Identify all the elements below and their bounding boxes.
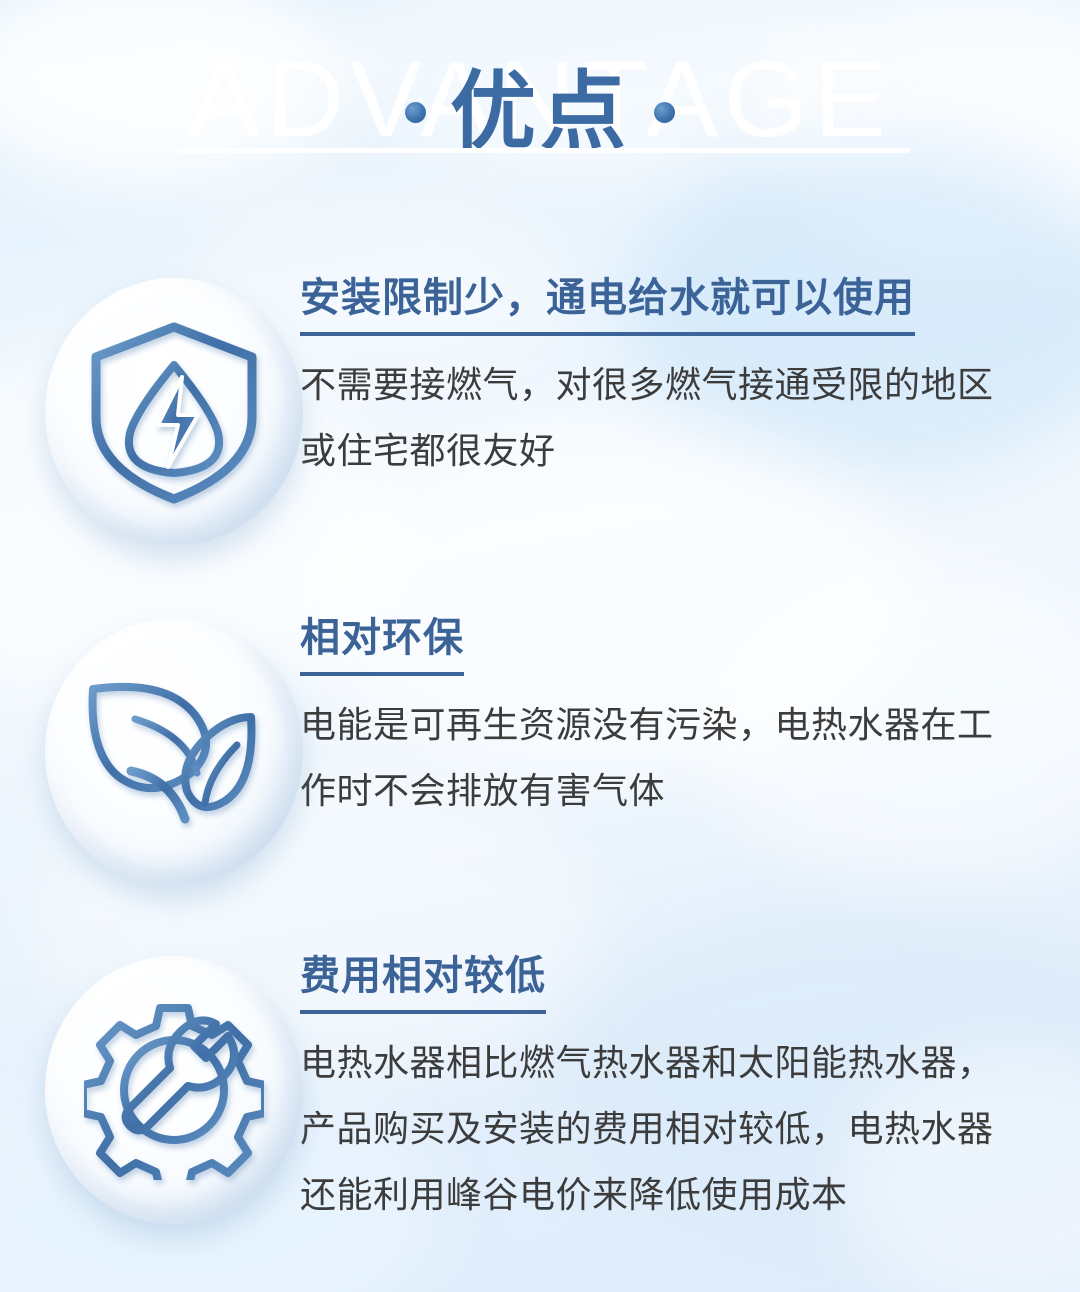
shield-water-lightning-icon <box>86 319 262 505</box>
page-title-block: ADVANTAGE 优点 <box>0 34 1080 194</box>
icon-circle-badge <box>45 618 303 886</box>
advantage-item: 费用相对较低 电热水器相比燃气热水器和太阳能热水器，产品购买及安装的费用相对较低… <box>0 950 1080 1230</box>
advantage-heading: 安装限制少，通电给水就可以使用 <box>300 272 915 336</box>
text-column: 相对环保 电能是可再生资源没有污染，电热水器在工作时不会排放有害气体 <box>300 612 1080 824</box>
icon-circle-badge <box>45 956 303 1224</box>
bullet-dot-right-icon <box>654 102 675 123</box>
advantage-heading: 相对环保 <box>300 612 464 676</box>
leaf-eco-icon <box>79 667 269 837</box>
text-column: 安装限制少，通电给水就可以使用 不需要接燃气，对很多燃气接通受限的地区或住宅都很… <box>300 272 1080 484</box>
text-column: 费用相对较低 电热水器相比燃气热水器和太阳能热水器，产品购买及安装的费用相对较低… <box>300 950 1080 1228</box>
gear-wrench-icon <box>84 1000 264 1180</box>
advantage-item: 安装限制少，通电给水就可以使用 不需要接燃气，对很多燃气接通受限的地区或住宅都很… <box>0 272 1080 552</box>
title-overlay: 优点 <box>0 64 1080 160</box>
icon-container <box>0 272 300 552</box>
icon-container <box>0 612 300 892</box>
advantage-item: 相对环保 电能是可再生资源没有污染，电热水器在工作时不会排放有害气体 <box>0 612 1080 892</box>
advantage-body: 电热水器相比燃气热水器和太阳能热水器，产品购买及安装的费用相对较低，电热水器还能… <box>300 1030 1020 1228</box>
title-underline-rule <box>178 148 910 153</box>
advantage-heading: 费用相对较低 <box>300 950 546 1014</box>
advantage-body: 不需要接燃气，对很多燃气接通受限的地区或住宅都很友好 <box>300 352 1010 484</box>
bullet-dot-left-icon <box>405 102 426 123</box>
page-title: 优点 <box>450 64 630 160</box>
icon-circle-badge <box>45 278 303 546</box>
advantage-body: 电能是可再生资源没有污染，电热水器在工作时不会排放有害气体 <box>300 692 1010 824</box>
icon-container <box>0 950 300 1230</box>
advantage-page: ADVANTAGE 优点 <box>0 0 1080 1292</box>
